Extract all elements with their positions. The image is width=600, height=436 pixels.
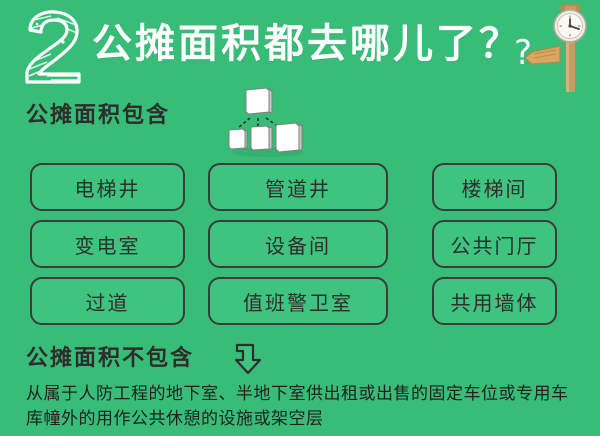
item-pill-pipe-shaft[interactable]: 管道井	[208, 163, 388, 211]
grid-cell: 设备间	[208, 220, 388, 268]
title-row: 公摊面积都去哪儿了？ ?	[0, 0, 600, 92]
item-pill-public-lobby[interactable]: 公共门厅	[432, 220, 557, 268]
item-pill-equipment-room[interactable]: 设备间	[208, 220, 388, 268]
includes-section-heading: 公摊面积包含	[26, 101, 170, 131]
includes-items-grid: 电梯井 管道井 楼梯间 变电室 设备间 公共门厅	[30, 163, 570, 334]
grid-cell: 值班警卫室	[208, 277, 388, 325]
page-title: 公摊面积都去哪儿了？	[92, 16, 522, 72]
grid-row: 过道 值班警卫室 共用墙体	[30, 277, 570, 325]
excludes-body-text: 从属于人防工程的地下室、半地下室供出租或出售的固定车位或专用车库幢外的用作公共休…	[26, 382, 582, 432]
clock-signpost-icon: ?	[508, 2, 596, 92]
hand-drawn-number-two-icon	[17, 8, 89, 84]
arrow-down-icon	[232, 342, 266, 376]
grid-cell: 楼梯间	[432, 163, 557, 211]
grid-gap	[185, 277, 208, 325]
grid-cell: 过道	[30, 277, 185, 325]
grid-cell: 变电室	[30, 220, 185, 268]
item-pill-elevator-shaft[interactable]: 电梯井	[30, 163, 185, 211]
grid-row: 变电室 设备间 公共门厅	[30, 220, 570, 268]
building-blocks-split-icon	[224, 86, 308, 158]
grid-row: 电梯井 管道井 楼梯间	[30, 163, 570, 211]
grid-cell: 电梯井	[30, 163, 185, 211]
item-pill-substation[interactable]: 变电室	[30, 220, 185, 268]
item-pill-stairwell[interactable]: 楼梯间	[432, 163, 557, 211]
grid-cell: 管道井	[208, 163, 388, 211]
item-pill-shared-wall[interactable]: 共用墙体	[432, 277, 557, 325]
grid-cell: 公共门厅	[432, 220, 557, 268]
excludes-section-heading: 公摊面积不包含	[26, 344, 194, 374]
grid-gap	[185, 163, 208, 211]
svg-text:?: ?	[514, 33, 532, 73]
item-pill-guard-room[interactable]: 值班警卫室	[208, 277, 388, 325]
grid-cell: 共用墙体	[432, 277, 557, 325]
grid-gap	[388, 163, 432, 211]
grid-gap	[185, 220, 208, 268]
item-pill-corridor[interactable]: 过道	[30, 277, 185, 325]
grid-gap	[388, 277, 432, 325]
infographic-page: 公摊面积都去哪儿了？ ?	[0, 0, 600, 436]
grid-gap	[388, 220, 432, 268]
